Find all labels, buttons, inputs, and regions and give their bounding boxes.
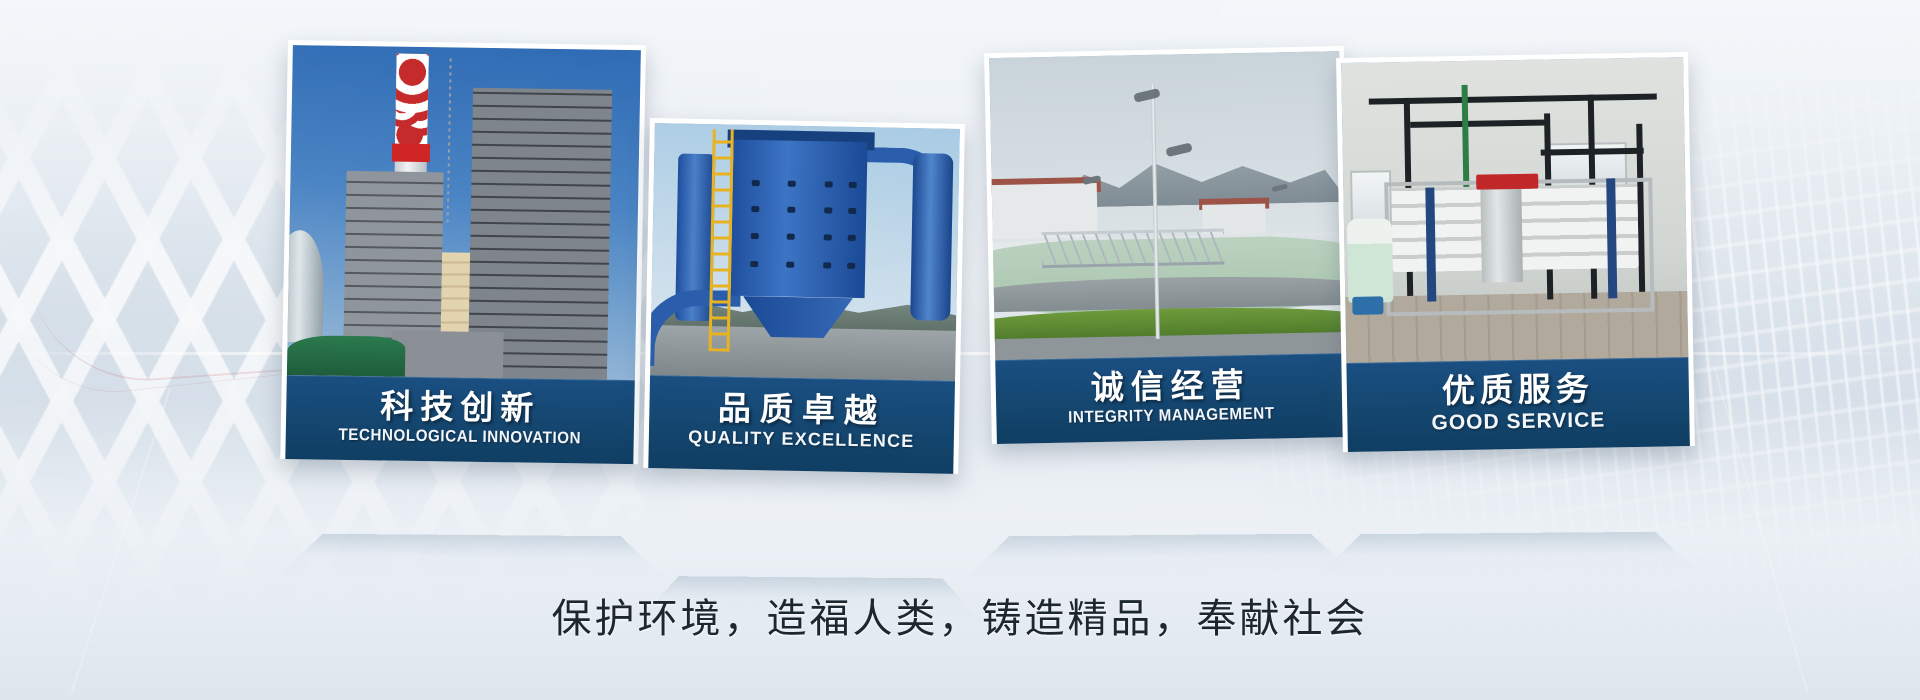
diagonal-accent-line [71, 388, 172, 693]
panel-title-en-2: QUALITY EXCELLENCE [649, 427, 954, 453]
diagonal-accent-line-right [1713, 366, 1809, 693]
feature-panel-technological-innovation[interactable]: 科技创新 TECHNOLOGICAL INNOVATION [280, 40, 646, 464]
feature-panel-integrity-management[interactable]: 诚信经营 INTEGRITY MANAGEMENT [984, 46, 1352, 444]
panel-caption-2: 品质卓越 QUALITY EXCELLENCE [648, 375, 955, 474]
panel-title-en-3: INTEGRITY MANAGEMENT [1010, 403, 1332, 428]
banner-tagline: 保护环境，造福人类，铸造精品，奉献社会 [0, 586, 1920, 644]
banner-stage: 科技创新 TECHNOLOGICAL INNOVATION [0, 0, 1920, 700]
panel-photo-bag-filter [650, 123, 960, 381]
panel-caption-4: 优质服务 GOOD SERVICE [1346, 357, 1689, 452]
panel-photo-chimney-towers [287, 45, 641, 380]
panel-photo-clarifier [989, 51, 1345, 360]
panel-caption-3: 诚信经营 INTEGRITY MANAGEMENT [995, 353, 1347, 444]
panel-title-en-4: GOOD SERVICE [1347, 407, 1689, 436]
panel-reflection-1 [274, 534, 669, 584]
panel-title-en-1: TECHNOLOGICAL INNOVATION [300, 425, 620, 448]
panel-title-cn-1: 科技创新 [286, 387, 635, 428]
panel-title-cn-2: 品质卓越 [649, 389, 955, 430]
panel-title-cn-4: 优质服务 [1347, 369, 1690, 411]
panel-reflection-3 [961, 534, 1361, 584]
panel-title-cn-3: 诚信经营 [995, 365, 1346, 408]
feature-panel-good-service[interactable]: 优质服务 GOOD SERVICE [1336, 52, 1695, 452]
panel-reflection-4 [1313, 532, 1704, 582]
feature-panel-quality-excellence[interactable]: 品质卓越 QUALITY EXCELLENCE [643, 118, 965, 474]
panel-photo-ro-membrane-skid [1341, 57, 1688, 363]
panel-caption-1: 科技创新 TECHNOLOGICAL INNOVATION [285, 375, 634, 464]
